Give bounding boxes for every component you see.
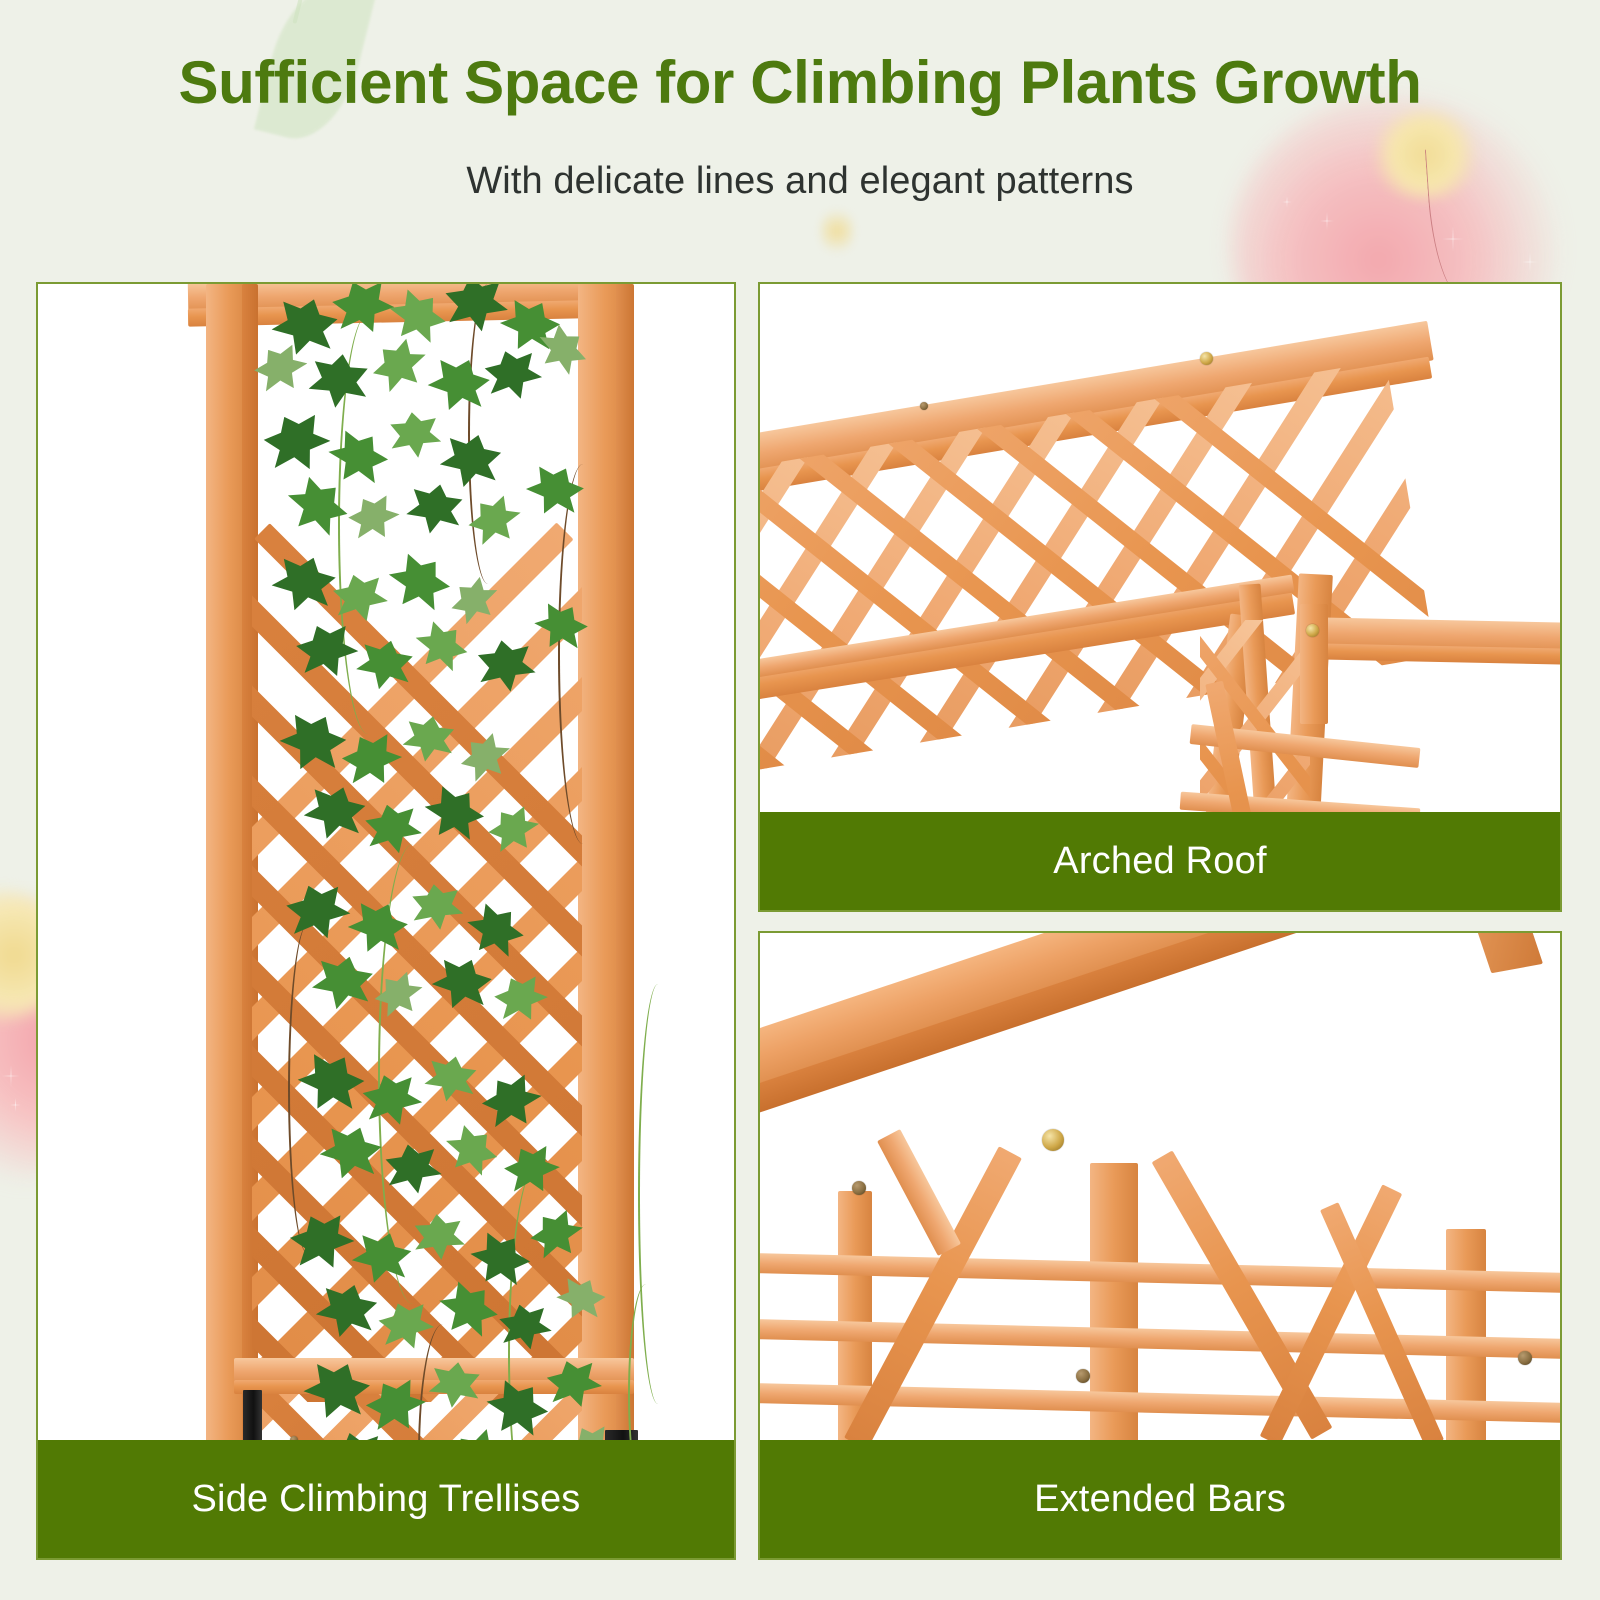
sparkle-icon bbox=[10, 1098, 21, 1112]
caption-label: Arched Roof bbox=[1053, 840, 1266, 883]
panel-side-climbing-trellises[interactable]: Side Climbing Trellises bbox=[36, 282, 736, 1560]
screw-icon bbox=[852, 1181, 866, 1195]
panel-arched-roof[interactable]: Arched Roof bbox=[758, 282, 1562, 912]
screw-icon bbox=[1042, 1129, 1064, 1151]
screw-icon bbox=[1076, 1369, 1090, 1383]
screw-icon bbox=[1518, 1351, 1532, 1365]
header: Sufficient Space for Climbing Plants Gro… bbox=[0, 0, 1600, 270]
caption-banner-arched-roof: Arched Roof bbox=[760, 812, 1560, 910]
photo-side-trellis bbox=[38, 284, 734, 1558]
caption-banner-extended-bars: Extended Bars bbox=[760, 1440, 1560, 1558]
page-title: Sufficient Space for Climbing Plants Gro… bbox=[0, 48, 1600, 117]
caption-label: Side Climbing Trellises bbox=[192, 1478, 581, 1521]
caption-label: Extended Bars bbox=[1034, 1478, 1286, 1521]
panel-extended-bars[interactable]: Extended Bars bbox=[758, 931, 1562, 1560]
caption-banner-side-trellises: Side Climbing Trellises bbox=[38, 1440, 734, 1558]
sparkle-icon bbox=[2, 1065, 20, 1087]
page-subtitle: With delicate lines and elegant patterns bbox=[0, 160, 1600, 203]
